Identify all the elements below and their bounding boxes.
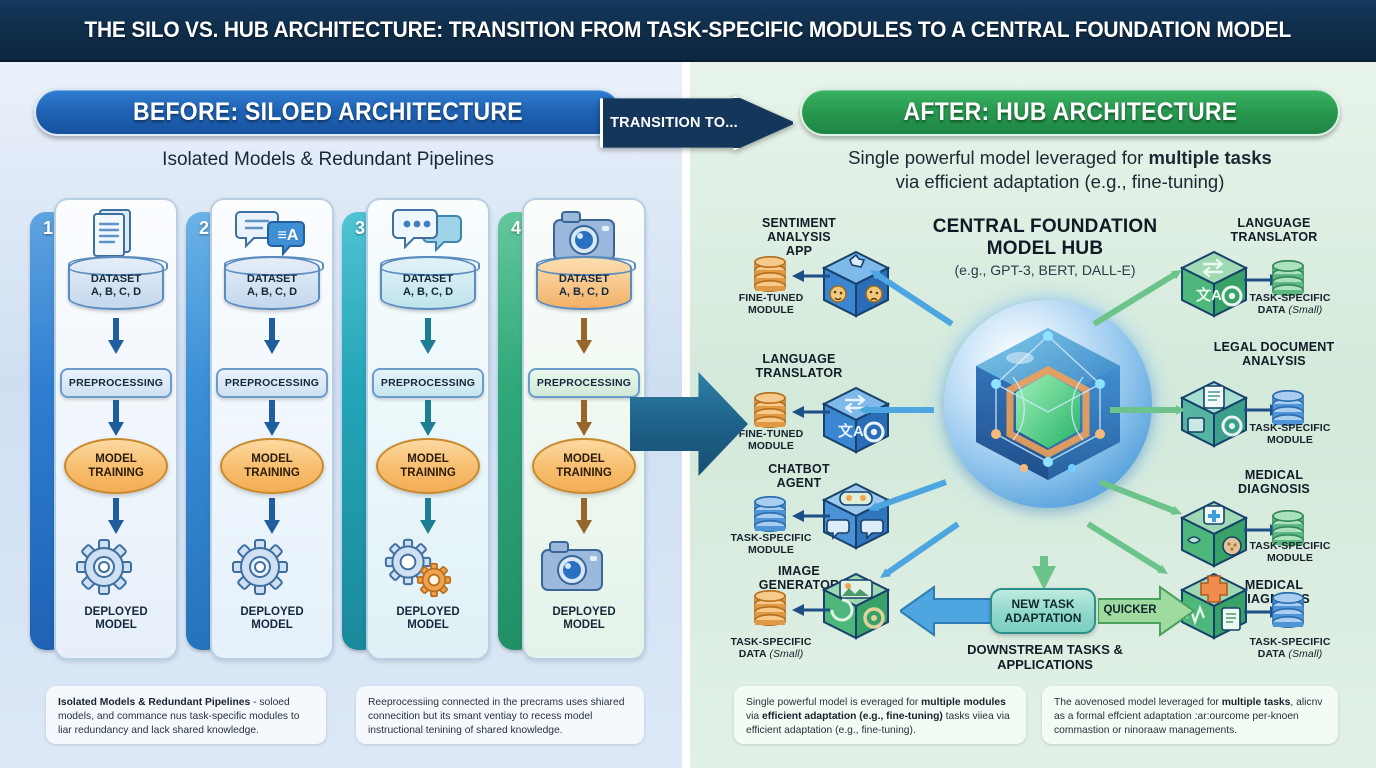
camera-icon: [528, 536, 616, 602]
infographic-root: THE SILO VS. HUB ARCHITECTURE: TRANSITIO…: [0, 0, 1376, 768]
pipeline-body-tip: [210, 636, 334, 670]
pipeline-body-tip: [522, 636, 646, 670]
pipeline-column-3[interactable]: 3 SPEECH RECOGNITION DATASETA, B, C, D P…: [342, 198, 490, 668]
pipeline-column-1[interactable]: 1 SENTIMENT ANALYSIS DATASETA, B, C, D P…: [30, 198, 178, 668]
pipeline-body-tip: [54, 636, 178, 670]
svg-text:文A: 文A: [1196, 286, 1222, 304]
preprocessing-box: PREPROCESSING: [60, 368, 172, 398]
after-card-1-a: Single powerful model is everaged for: [746, 697, 921, 708]
before-card-2: Reeprocessiing connected in the precrams…: [356, 686, 644, 744]
deployed-model-label: DEPLOYEDMODEL: [508, 606, 660, 632]
task-sub-label: TASK-SPECIFICMODULE: [1224, 422, 1356, 446]
cube-to-module-arrow: [792, 404, 830, 420]
model-training-ellipse: MODELTRAINING: [220, 438, 324, 494]
new-task-adaptation-label: NEW TASK ADAPTATION: [992, 597, 1094, 625]
dataset-label: DATASETA, B, C, D: [70, 273, 162, 299]
model-training-ellipse: MODELTRAINING: [532, 438, 636, 494]
pipeline-column-4[interactable]: 4 IMAGE CAPTIONING DATASETA, B, C, D PRE…: [498, 198, 646, 668]
after-card-1-d: efficient adaptation (e.g., fine-tuning): [762, 711, 943, 722]
hub-to-newtask-arrow: [1032, 556, 1056, 590]
gear-icon: [216, 536, 304, 602]
cube-to-module-arrow: [792, 268, 830, 284]
after-subtitle-line1b: multiple tasks: [1148, 147, 1271, 168]
dataset-cylinder: DATASETA, B, C, D: [224, 256, 320, 310]
after-card-2: The aovenosed model leveraged for multip…: [1042, 686, 1338, 744]
before-card-1: Isolated Models & Redundant Pipelines - …: [46, 686, 326, 744]
after-banner-label: AFTER: HUB ARCHITECTURE: [903, 98, 1237, 127]
dataset-label: DATASETA, B, C, D: [538, 273, 630, 299]
svg-text:≡A: ≡A: [278, 227, 299, 244]
transition-badge: TRANSITION TO...: [600, 95, 796, 151]
after-subtitle-line2: via efficient adaptation (e.g., fine-tun…: [896, 171, 1225, 192]
dataset-label: DATASETA, B, C, D: [382, 273, 474, 299]
before-card-2-text: Reeprocessiing connected in the precrams…: [368, 697, 624, 736]
transition-badge-label: TRANSITION TO...: [610, 95, 738, 151]
task-label: LANGUAGETRANSLATOR: [714, 352, 884, 380]
gear-icon: [60, 536, 148, 602]
deployed-model-label: DEPLOYEDMODEL: [352, 606, 504, 632]
pipeline-body-tip: [366, 636, 490, 670]
hub-cube-icon: [968, 322, 1128, 486]
downstream-tasks-label: DOWNSTREAM TASKS & APPLICATIONS: [925, 642, 1165, 672]
new-task-adaptation-pill: NEW TASK ADAPTATION: [990, 588, 1096, 634]
hub-title: CENTRAL FOUNDATION MODEL HUB: [905, 216, 1185, 260]
dataset-label: DATASETA, B, C, D: [226, 273, 318, 299]
before-subtitle: Isolated Models & Redundant Pipelines: [34, 148, 622, 172]
task-sub-label: TASK-SPECIFICMODULE: [1224, 540, 1356, 564]
after-card-2-a: The aovenosed model leveraged for: [1054, 697, 1222, 708]
double-gear-icon: [372, 536, 460, 602]
before-banner: BEFORE: SILOED ARCHITECTURE: [34, 88, 622, 136]
task-label: LEGAL DOCUMENTANALYSIS: [1184, 340, 1364, 368]
new-task-left-arrow: [900, 585, 996, 637]
preprocessing-box: PREPROCESSING: [528, 368, 640, 398]
before-banner-label: BEFORE: SILOED ARCHITECTURE: [133, 98, 523, 127]
task-sub-label: TASK-SPECIFICDATA (Small): [708, 636, 834, 660]
deployed-model-label: DEPLOYEDMODEL: [196, 606, 348, 632]
after-banner: AFTER: HUB ARCHITECTURE: [800, 88, 1340, 136]
task-sub-label: TASK-SPECIFICMODULE: [708, 532, 834, 556]
after-subtitle: Single powerful model leveraged for mult…: [760, 146, 1360, 194]
after-card-1: Single powerful model is everaged for mu…: [734, 686, 1026, 744]
after-card-1-c: via: [746, 711, 762, 722]
deployed-model-label: DEPLOYEDMODEL: [40, 606, 192, 632]
preprocessing-box: PREPROCESSING: [216, 368, 328, 398]
page-title: THE SILO VS. HUB ARCHITECTURE: TRANSITIO…: [85, 17, 1292, 43]
after-card-2-b: multiple tasks: [1222, 697, 1291, 708]
dataset-cylinder: DATASETA, B, C, D: [380, 256, 476, 310]
task-label: MEDICALDIAGNOSIS: [1184, 468, 1364, 496]
cube-to-module-arrow: [792, 602, 830, 618]
task-label: LANGUAGETRANSLATOR: [1184, 216, 1364, 244]
orange-disk-icon: [752, 586, 790, 639]
quicker-label: QUICKER: [1099, 604, 1161, 616]
page-title-bar: THE SILO VS. HUB ARCHITECTURE: TRANSITIO…: [0, 0, 1376, 62]
model-training-ellipse: MODELTRAINING: [376, 438, 480, 494]
task-sub-label: TASK-SPECIFICDATA (Small): [1224, 636, 1356, 660]
dataset-cylinder: DATASETA, B, C, D: [68, 256, 164, 310]
task-sub-label: TASK-SPECIFICDATA (Small): [1224, 292, 1356, 316]
after-subtitle-line1a: Single powerful model leveraged for: [848, 147, 1148, 168]
model-training-ellipse: MODELTRAINING: [64, 438, 168, 494]
svg-text:文A: 文A: [838, 422, 864, 440]
blue-disk-icon: [1270, 588, 1308, 641]
preprocessing-box: PREPROCESSING: [372, 368, 484, 398]
before-card-1-bold: Isolated Models & Redundant Pipelines: [58, 697, 250, 708]
dataset-cylinder: DATASETA, B, C, D: [536, 256, 632, 310]
task-sub-label: FINE-TUNEDMODULE: [708, 292, 834, 316]
pipeline-column-2[interactable]: 2 TEXT TRANSLATION ≡A DATASETA, B, C, D …: [186, 198, 334, 668]
after-card-1-b: multiple modules: [921, 697, 1006, 708]
cube-to-module-arrow: [792, 508, 830, 524]
hub-subtitle: (e.g., GPT-3, BERT, DALL-E): [895, 262, 1195, 278]
